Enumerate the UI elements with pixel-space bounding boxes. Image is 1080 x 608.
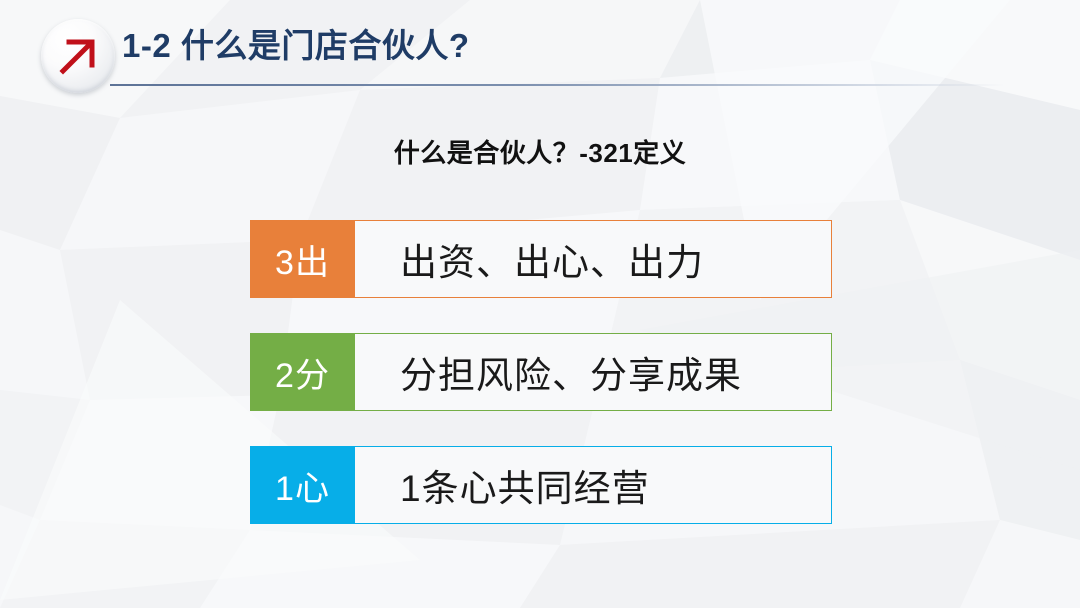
page-title: 1-2 什么是门店合伙人? [122,24,470,68]
slide-canvas: 1-2 什么是门店合伙人? 什么是合伙人？-321定义 3出 出资、出心、出力 … [0,0,1080,608]
row-badge-label: 3出 [250,220,355,298]
row-content-text: 分担风险、分享成果 [355,333,832,411]
list-item: 3出 出资、出心、出力 [250,220,832,298]
list-item: 2分 分担风险、分享成果 [250,333,832,411]
row-badge-label: 2分 [250,333,355,411]
definition-list: 3出 出资、出心、出力 2分 分担风险、分享成果 1心 1条心共同经营 [250,220,832,524]
section-subtitle: 什么是合伙人？-321定义 [0,133,1080,170]
diagonal-arrow-icon [41,19,115,93]
row-content-text: 1条心共同经营 [355,446,832,524]
row-badge-label: 1心 [250,446,355,524]
slide-header: 1-2 什么是门店合伙人? [0,0,1080,100]
row-content-text: 出资、出心、出力 [355,220,832,298]
title-divider [110,84,1005,86]
list-item: 1心 1条心共同经营 [250,446,832,524]
